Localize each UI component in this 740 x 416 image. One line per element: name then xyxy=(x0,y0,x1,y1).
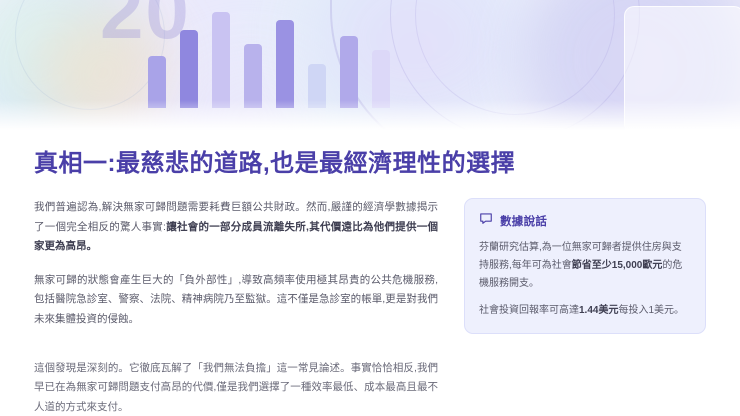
article-content: 真相一:最慈悲的道路,也是最經濟理性的選擇 我們普遍認為,解決無家可歸問題需要耗… xyxy=(0,130,740,416)
decorative-bar xyxy=(212,12,230,108)
document-page: 20 真相一:最慈悲的道路,也是最經濟理性的選擇 我們普遍認為,解決無家可歸問題… xyxy=(0,0,740,416)
decorative-bar-chart xyxy=(148,4,390,108)
data-callout-box: 數據說話 芬蘭研究估算,為一位無家可歸者提供住房與支持服務,每年可為社會節省至少… xyxy=(464,198,706,334)
hero-fade-overlay xyxy=(0,100,740,130)
decorative-bar xyxy=(276,20,294,108)
paragraph-1: 我們普遍認為,解決無家可歸問題需要耗費巨額公共財政。然而,嚴謹的經濟學數據揭示了… xyxy=(34,198,438,256)
closing-paragraph: 這個發現是深刻的。它徹底瓦解了「我們無法負擔」這一常見論述。事實恰恰相反,我們早… xyxy=(34,359,438,416)
chat-bubble-icon xyxy=(479,211,493,230)
callout-title: 數據說話 xyxy=(500,213,547,229)
article-body-column: 我們普遍認為,解決無家可歸問題需要耗費巨額公共財政。然而,嚴謹的經濟學數據揭示了… xyxy=(34,198,438,343)
decorative-bar xyxy=(244,44,262,108)
decorative-bar xyxy=(180,30,198,108)
paragraph-2: 無家可歸的狀態會產生巨大的「負外部性」,導致高頻率使用極其昂貴的公共危機服務,包… xyxy=(34,271,438,329)
decorative-bar xyxy=(340,36,358,108)
callout-column: 數據說話 芬蘭研究估算,為一位無家可歸者提供住房與支持服務,每年可為社會節省至少… xyxy=(464,198,706,334)
callout-paragraph-1: 芬蘭研究估算,為一位無家可歸者提供住房與支持服務,每年可為社會節省至少15,00… xyxy=(479,239,691,293)
page-title: 真相一:最慈悲的道路,也是最經濟理性的選擇 xyxy=(34,148,706,180)
hero-banner: 20 xyxy=(0,0,740,130)
callout-paragraph-2: 社會投資回報率可高達1.44美元每投入1美元。 xyxy=(479,302,691,320)
callout-header: 數據說話 xyxy=(479,211,691,230)
two-column-layout: 我們普遍認為,解決無家可歸問題需要耗費巨額公共財政。然而,嚴謹的經濟學數據揭示了… xyxy=(34,198,706,343)
